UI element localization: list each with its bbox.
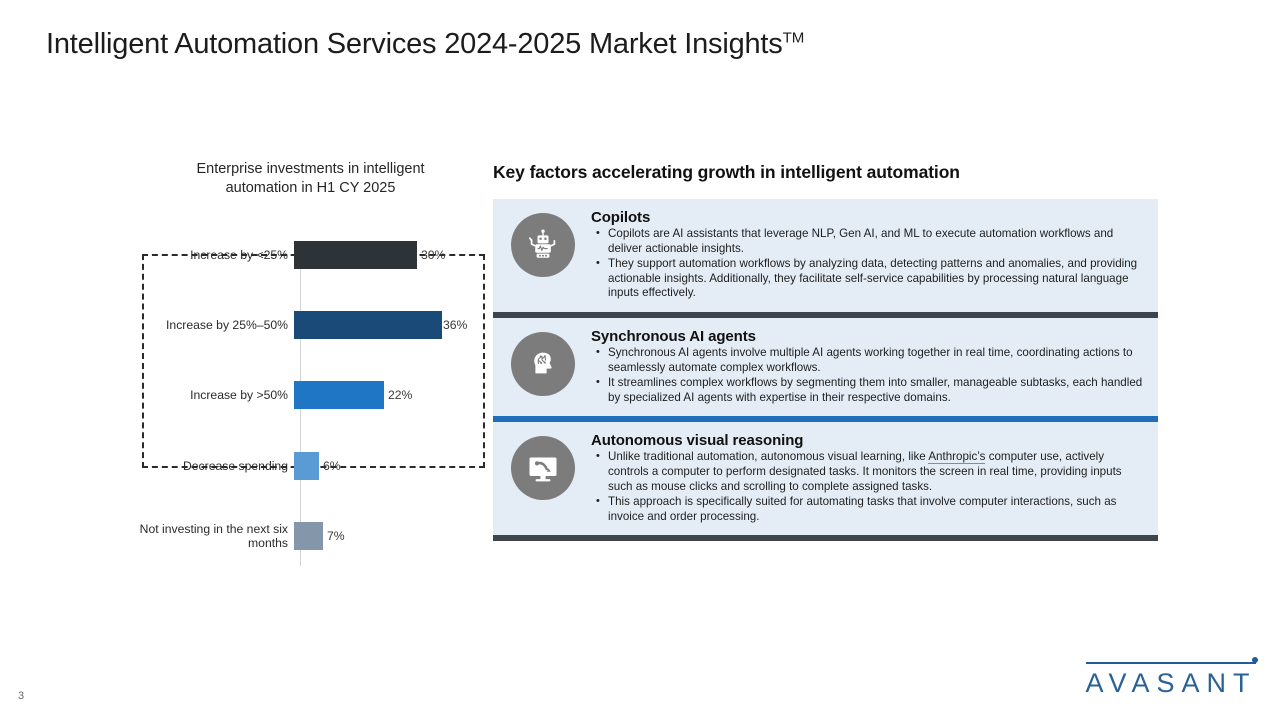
avasant-logo: AVASANT	[1078, 656, 1264, 702]
logo-dot-icon	[1252, 657, 1258, 663]
card-title: Autonomous visual reasoning	[591, 432, 1146, 449]
bar-fill	[294, 452, 319, 480]
bar-value-label: 30%	[421, 248, 445, 262]
chart-plot-area: Increase by <25% 30% Increase by 25%–50%…	[128, 206, 493, 566]
factor-card-copilots: Copilots Copilots are AI assistants that…	[493, 199, 1158, 312]
bar-value-label: 7%	[327, 529, 345, 543]
bar-wrap: 36%	[294, 308, 467, 342]
page-title: Intelligent Automation Services 2024-202…	[46, 28, 804, 61]
card-title: Synchronous AI agents	[591, 328, 1146, 345]
factor-card-autonomous-visual-reasoning: Autonomous visual reasoning Unlike tradi…	[493, 422, 1158, 535]
bar-fill	[294, 381, 384, 409]
card-separator-3	[493, 535, 1158, 541]
bar-label: Increase by <25%	[128, 248, 294, 263]
list-item: This approach is specifically suited for…	[608, 495, 1146, 524]
spellcheck-underline: Anthropic’s	[928, 450, 985, 464]
bar-wrap: 22%	[294, 378, 412, 412]
list-item: Unlike traditional automation, autonomou…	[608, 450, 1146, 494]
chart-title-line-2: automation in H1 CY 2025	[128, 179, 493, 198]
brain-head-icon	[511, 332, 575, 396]
logo-text: AVASANT	[1078, 668, 1264, 699]
bar-value-label: 22%	[388, 388, 412, 402]
monitor-icon	[511, 436, 575, 500]
factor-card-synchronous-ai-agents: Synchronous AI agents Synchronous AI age…	[493, 318, 1158, 416]
investments-bar-chart: Enterprise investments in intelligent au…	[128, 160, 493, 565]
card-body: Autonomous visual reasoning Unlike tradi…	[591, 422, 1158, 535]
chart-title: Enterprise investments in intelligent au…	[128, 160, 493, 198]
bar-value-label: 6%	[323, 459, 341, 473]
panel-heading: Key factors accelerating growth in intel…	[493, 162, 1158, 183]
list-item: Synchronous AI agents involve multiple A…	[608, 346, 1146, 375]
bar-fill	[294, 311, 442, 339]
card-body: Synchronous AI agents Synchronous AI age…	[591, 318, 1158, 416]
chart-highlight-box	[142, 254, 485, 468]
bar-wrap: 6%	[294, 449, 341, 483]
card-body: Copilots Copilots are AI assistants that…	[591, 199, 1158, 312]
page-title-text: Intelligent Automation Services 2024-202…	[46, 28, 783, 60]
bar-label: Decrease spending	[128, 459, 294, 474]
robot-icon	[511, 213, 575, 277]
bar-fill	[294, 522, 323, 550]
key-factors-panel: Key factors accelerating growth in intel…	[493, 162, 1158, 541]
bar-row: Increase by 25%–50% 36%	[128, 308, 493, 342]
card-bullet-list: Copilots are AI assistants that leverage…	[591, 227, 1146, 301]
bar-value-label: 36%	[443, 318, 467, 332]
bar-label: Increase by 25%–50%	[128, 318, 294, 333]
card-bullet-list: Synchronous AI agents involve multiple A…	[591, 346, 1146, 405]
trademark-mark: TM	[783, 29, 805, 46]
card-title: Copilots	[591, 209, 1146, 226]
page-number: 3	[18, 690, 24, 702]
bar-fill	[294, 241, 417, 269]
bar-row: Decrease spending 6%	[128, 449, 493, 483]
logo-rule	[1086, 662, 1256, 664]
bar-label: Increase by >50%	[128, 388, 294, 403]
bar-label: Not investing in the next six months	[128, 522, 294, 551]
bar-row: Increase by >50% 22%	[128, 378, 493, 412]
bar-wrap: 7%	[294, 519, 345, 553]
list-item: It streamlines complex workflows by segm…	[608, 376, 1146, 405]
list-item: They support automation workflows by ana…	[608, 257, 1146, 301]
card-bullet-list: Unlike traditional automation, autonomou…	[591, 450, 1146, 524]
bar-row: Increase by <25% 30%	[128, 238, 493, 272]
bar-row: Not investing in the next six months 7%	[128, 519, 493, 553]
bar-wrap: 30%	[294, 238, 445, 272]
chart-title-line-1: Enterprise investments in intelligent	[128, 160, 493, 179]
list-item: Copilots are AI assistants that leverage…	[608, 227, 1146, 256]
